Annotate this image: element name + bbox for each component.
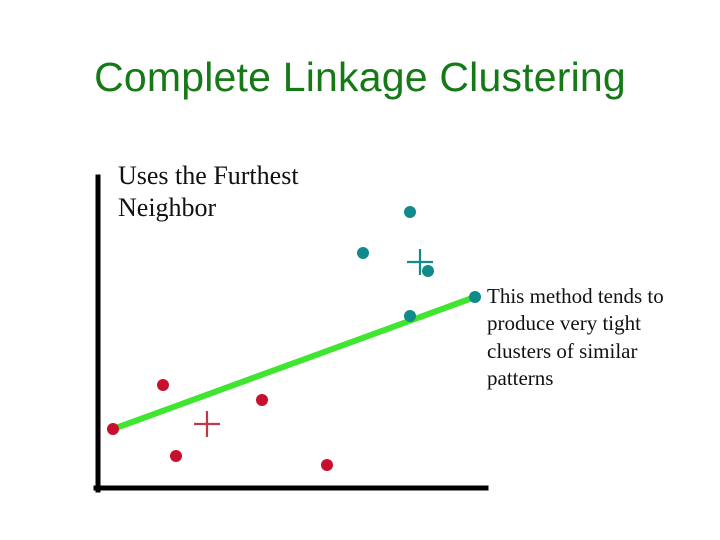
- tight-clusters-note: This method tends to produce very tight …: [487, 283, 702, 392]
- note-line: Uses the Furthest: [118, 160, 380, 192]
- data-point-teal: [404, 206, 416, 218]
- uses-the-furthest-neighbor-note: Uses the Furthest Neighbor: [118, 160, 380, 224]
- data-point-red: [256, 394, 268, 406]
- note-line: Neighbor: [118, 192, 380, 224]
- data-point-red: [321, 459, 333, 471]
- data-point-teal: [422, 265, 434, 277]
- note-line: produce very tight: [487, 310, 702, 337]
- note-line: This method tends to: [487, 283, 702, 310]
- slide-canvas: Complete Linkage Clustering Uses the Fur…: [0, 0, 720, 540]
- data-point-teal: [357, 247, 369, 259]
- cluster-diagram: [0, 0, 720, 540]
- data-point-teal: [469, 291, 481, 303]
- centroid-marker-red: [194, 411, 220, 437]
- note-line: patterns: [487, 365, 702, 392]
- data-point-teal: [404, 310, 416, 322]
- data-point-red: [157, 379, 169, 391]
- furthest-neighbor-link-line: [113, 297, 475, 429]
- note-line: clusters of similar: [487, 338, 702, 365]
- cluster-scatter-plot: [0, 0, 720, 540]
- data-point-red: [107, 423, 119, 435]
- data-point-red: [170, 450, 182, 462]
